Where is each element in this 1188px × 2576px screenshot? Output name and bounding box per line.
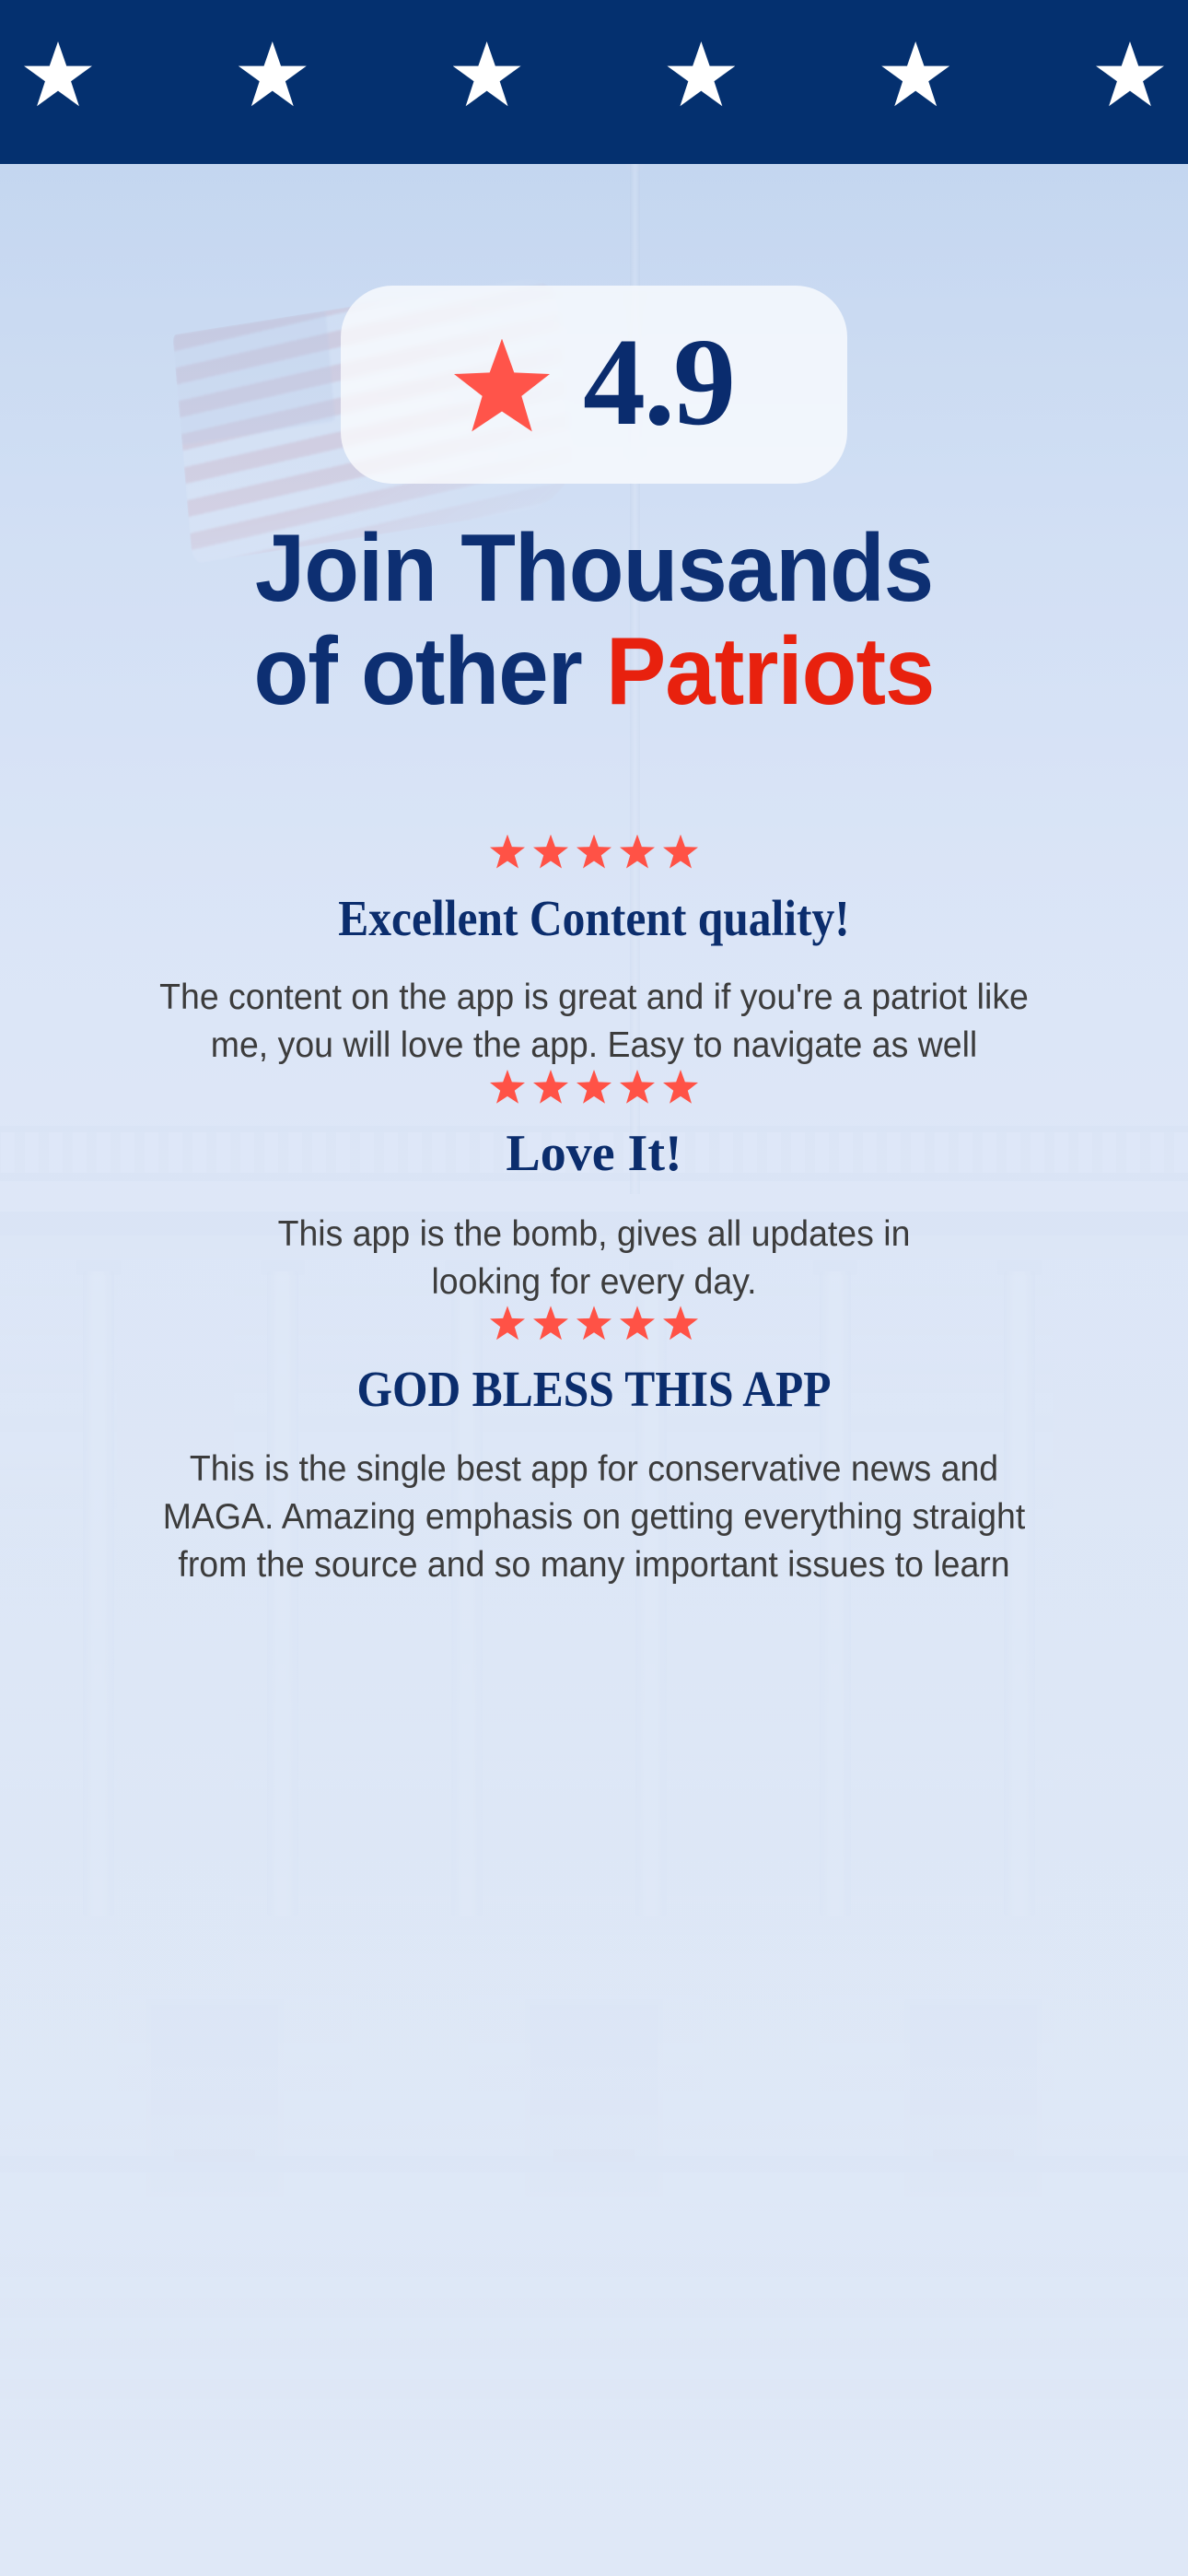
star-icon bbox=[533, 835, 568, 870]
rating-badge: 4.9 bbox=[341, 286, 847, 484]
star-icon bbox=[1096, 41, 1164, 110]
star-icon bbox=[577, 835, 611, 870]
review-title: Love It! bbox=[74, 1125, 1114, 1183]
review-body: This app is the bomb, gives all updates … bbox=[258, 1211, 930, 1306]
star-icon bbox=[667, 41, 735, 110]
onboarding-social-proof-screen: 4.9 Join Thousands of other Patriots Exc… bbox=[0, 0, 1188, 2576]
star-icon bbox=[663, 1070, 698, 1105]
star-icon bbox=[881, 41, 949, 110]
star-icon bbox=[663, 1306, 698, 1341]
star-icon bbox=[490, 1306, 525, 1341]
star-icon bbox=[663, 835, 698, 870]
review-body: The content on the app is great and if y… bbox=[147, 974, 1041, 1070]
rating-score: 4.9 bbox=[583, 320, 734, 445]
star-icon bbox=[454, 339, 550, 435]
star-icon bbox=[620, 835, 655, 870]
review-card: Excellent Content quality! The content o… bbox=[0, 835, 1188, 1070]
star-icon bbox=[577, 1306, 611, 1341]
reviews-list: Excellent Content quality! The content o… bbox=[0, 835, 1188, 1589]
top-star-banner bbox=[0, 0, 1188, 164]
headline-line-2-prefix: of other bbox=[253, 618, 606, 725]
headline-line-1: Join Thousands bbox=[255, 515, 933, 622]
rating-badge-wrapper: 4.9 bbox=[0, 286, 1188, 484]
star-icon bbox=[533, 1070, 568, 1105]
star-icon bbox=[490, 835, 525, 870]
star-icon bbox=[453, 41, 521, 110]
star-icon bbox=[620, 1070, 655, 1105]
star-icon bbox=[620, 1306, 655, 1341]
page-title: Join Thousands of other Patriots bbox=[36, 517, 1153, 724]
star-icon bbox=[239, 41, 307, 110]
star-icon bbox=[24, 41, 92, 110]
review-card: GOD BLESS THIS APP This is the single be… bbox=[0, 1306, 1188, 1588]
review-title: GOD BLESS THIS APP bbox=[126, 1361, 1063, 1418]
headline-accent-word: Patriots bbox=[606, 618, 934, 725]
review-star-rating bbox=[74, 835, 1114, 870]
star-icon bbox=[490, 1070, 525, 1105]
review-card: Love It! This app is the bomb, gives all… bbox=[0, 1070, 1188, 1306]
review-body: This is the single best app for conserva… bbox=[134, 1446, 1054, 1589]
star-icon bbox=[533, 1306, 568, 1341]
review-title: Excellent Content quality! bbox=[126, 890, 1063, 947]
review-star-rating bbox=[74, 1306, 1114, 1341]
review-star-rating bbox=[74, 1070, 1114, 1105]
star-icon bbox=[577, 1070, 611, 1105]
